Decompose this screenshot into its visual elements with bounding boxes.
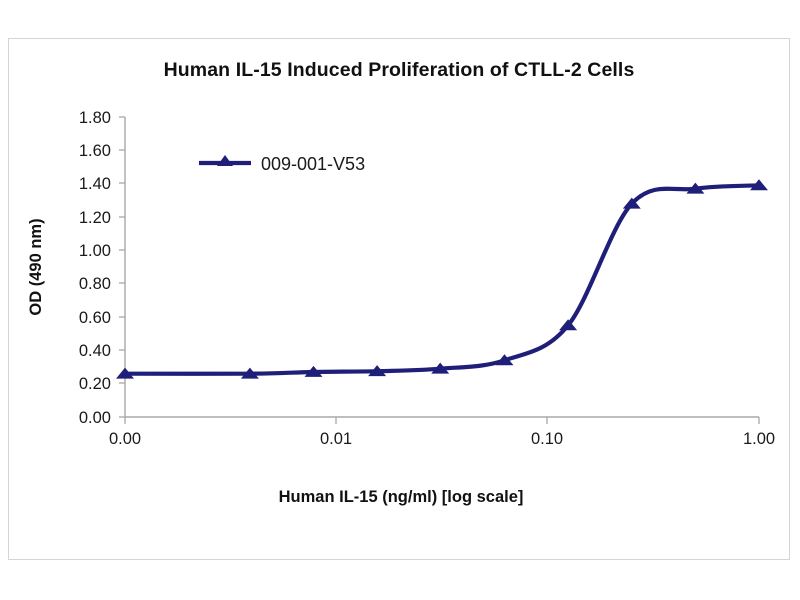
y-tick-label: 0.00 <box>79 409 111 427</box>
x-tick-marks <box>125 417 759 424</box>
y-tick-label: 1.00 <box>79 242 111 260</box>
chart-legend: 009-001-V53 <box>199 154 365 174</box>
y-tick-label: 1.20 <box>79 209 111 227</box>
chart-plot-area: 1.80 1.60 1.40 1.20 1.00 0.80 0.60 0.40 … <box>9 39 791 561</box>
data-point-marker <box>559 319 577 330</box>
legend-entry-label: 009-001-V53 <box>261 154 365 174</box>
legend-triangle-marker <box>217 155 233 166</box>
y-tick-label: 0.80 <box>79 275 111 293</box>
y-tick-label: 0.60 <box>79 309 111 327</box>
x-tick-label: 0.00 <box>109 430 141 448</box>
y-tick-label: 1.60 <box>79 142 111 160</box>
x-axis-title: Human IL-15 (ng/ml) [log scale] <box>279 488 524 506</box>
x-tick-label: 0.10 <box>531 430 563 448</box>
y-tick-label: 1.80 <box>79 109 111 127</box>
y-tick-label: 0.40 <box>79 342 111 360</box>
x-tick-label: 0.01 <box>320 430 352 448</box>
y-tick-label: 1.40 <box>79 175 111 193</box>
y-tick-label: 0.20 <box>79 375 111 393</box>
data-series-line <box>125 185 759 373</box>
data-point-markers <box>116 179 768 378</box>
figure-panel: Human IL-15 Induced Proliferation of CTL… <box>8 38 790 560</box>
y-axis-title: OD (490 nm) <box>27 218 45 315</box>
x-tick-label: 1.00 <box>743 430 775 448</box>
